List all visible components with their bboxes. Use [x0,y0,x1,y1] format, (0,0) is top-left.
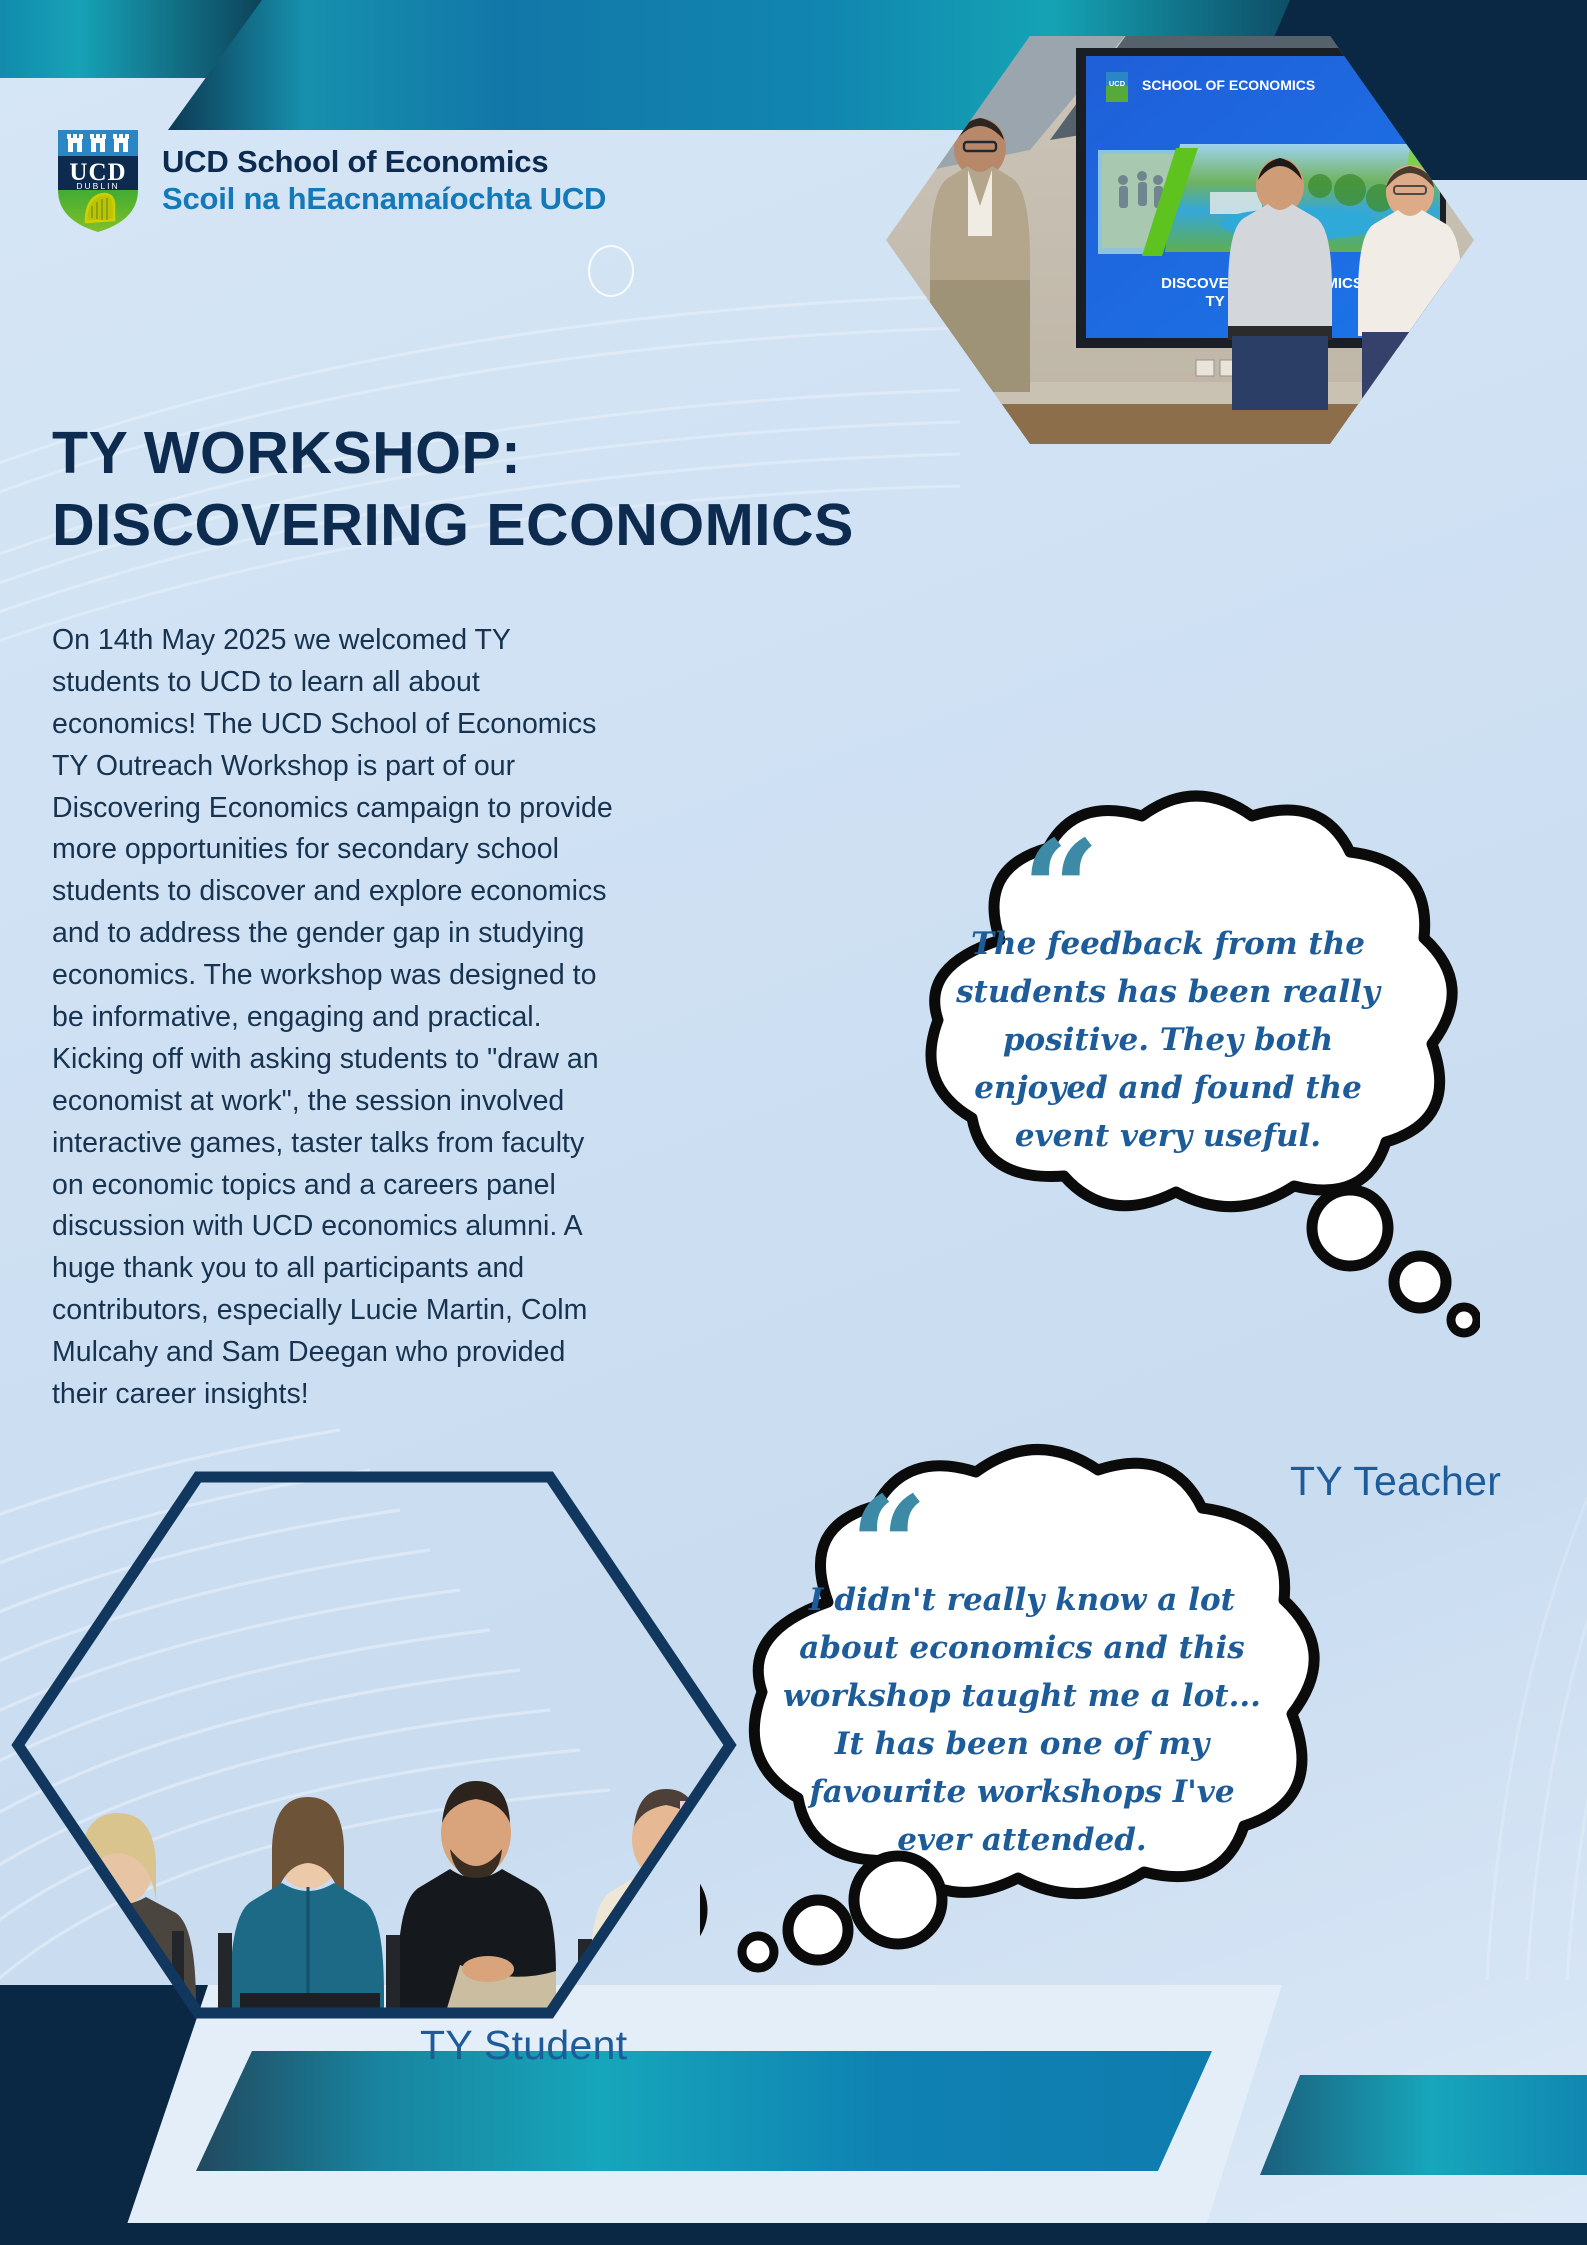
careers-panel-photo [0,1465,760,2025]
page-title-line-1: TY WORKSHOP: [52,418,952,490]
page-title: TY WORKSHOP: DISCOVERING ECONOMICS [52,418,952,562]
quote-text-student: I didn't really know a lot about economi… [772,1576,1272,1864]
brand-line-1: UCD School of Economics [162,144,606,181]
workshop-presenters-photo: UCD SCHOOL OF ECONOMICS DISCOVERING ECON… [880,30,1480,450]
ucd-crest-icon: UCD DUBLIN [56,128,140,234]
svg-text:DUBLIN: DUBLIN [76,181,119,191]
quote-bubble-teacher: “ The feedback from the students has bee… [880,790,1480,1430]
svg-text:UCD: UCD [1109,79,1126,88]
quote-bubble-student: “ I didn't really know a lot about econo… [700,1440,1360,2120]
ucd-logo-lockup: UCD DUBLIN UCD School of Economics Scoil… [56,128,606,234]
article-body: On 14th May 2025 we welcomed TY students… [52,620,622,1416]
quote-text-teacher: The feedback from the students has been … [948,920,1388,1160]
poster-canvas: UCD DUBLIN UCD School of Economics Scoil… [0,0,1587,2245]
quote-attribution-student: TY Student [420,2022,627,2069]
brand-line-2: Scoil na hEacnamaíochta UCD [162,181,606,218]
slide-header: SCHOOL OF ECONOMICS [1142,77,1315,93]
page-title-line-2: DISCOVERING ECONOMICS [52,490,952,562]
decorative-ring [588,245,634,297]
